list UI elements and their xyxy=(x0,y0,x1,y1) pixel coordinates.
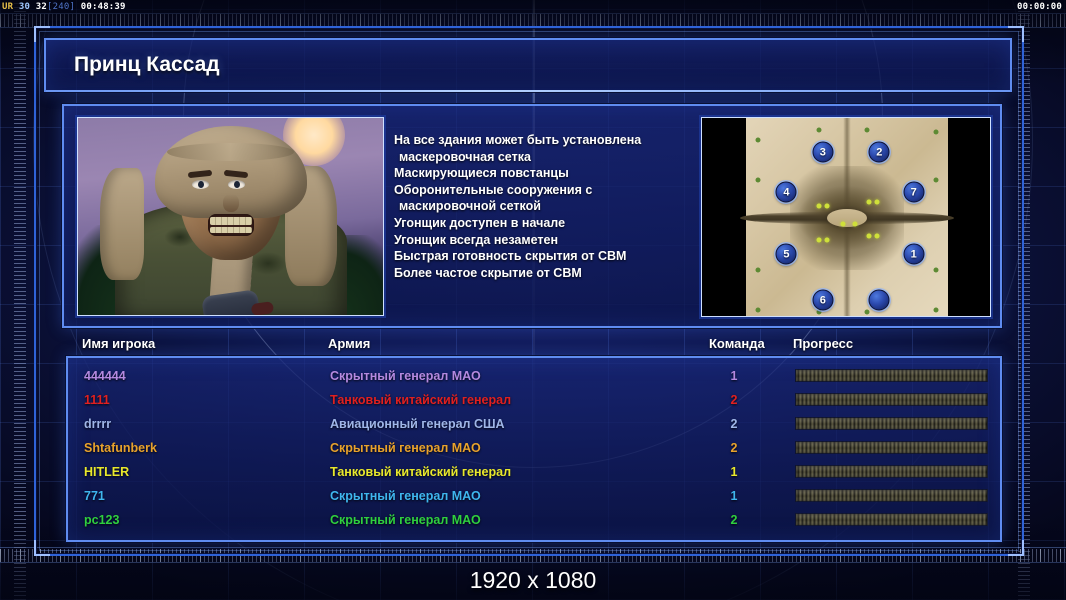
map-start-position[interactable]: 6 xyxy=(812,290,833,311)
player-army: Авиационный генерал США xyxy=(330,412,505,436)
player-team: 1 xyxy=(719,460,749,484)
player-name: drrrr xyxy=(84,412,111,436)
player-team: 2 xyxy=(719,388,749,412)
player-progress-bar xyxy=(795,465,988,478)
column-header-player-name: Имя игрока xyxy=(82,336,155,351)
player-progress-bar xyxy=(795,393,988,406)
player-progress-bar xyxy=(795,369,988,382)
general-info-panel: На все здания может быть установленамаск… xyxy=(62,104,1002,328)
portrait-eye-right xyxy=(228,180,245,189)
player-army: Танковый китайский генерал xyxy=(330,460,511,484)
status-ur-label: UR xyxy=(2,2,13,12)
table-row[interactable]: 1111Танковый китайский генерал2 xyxy=(68,388,1000,412)
player-table-panel: 444444Скрытный генерал МАО11111Танковый … xyxy=(66,356,1002,542)
map-resource-icon xyxy=(875,200,880,205)
map-resource-icon xyxy=(824,204,829,209)
map-start-position[interactable]: 1 xyxy=(903,244,924,265)
player-table-header: Имя игрока Армия Команда Прогресс xyxy=(66,336,1002,356)
player-army: Танковый китайский генерал xyxy=(330,388,511,412)
corner-marker-bottom-right xyxy=(1008,540,1024,556)
player-name: 1111 xyxy=(84,388,110,412)
map-tree-icon xyxy=(816,128,821,133)
status-bar-left: UR 30 32[240] 00:48:39 xyxy=(2,0,126,14)
description-line: маскеровочная сетка xyxy=(394,149,694,166)
status-game-clock: 00:48:39 xyxy=(81,2,126,12)
player-army: Скрытный генерал МАО xyxy=(330,484,481,508)
corner-marker-bottom-left xyxy=(34,540,50,556)
player-team: 1 xyxy=(719,364,749,388)
player-name: 771 xyxy=(84,484,105,508)
player-name: Shtafunberk xyxy=(84,436,157,460)
player-name: HITLER xyxy=(84,460,129,484)
map-resource-icon xyxy=(867,200,872,205)
portrait-teeth-upper xyxy=(210,217,252,225)
table-row[interactable]: pc123Скрытный генерал МАО2 xyxy=(68,508,1000,532)
status-value-bracket: [240] xyxy=(47,2,75,12)
table-row[interactable]: drrrrАвиационный генерал США2 xyxy=(68,412,1000,436)
player-progress-bar xyxy=(795,489,988,502)
player-name: pc123 xyxy=(84,508,119,532)
description-line: маскировочной сеткой xyxy=(394,198,694,215)
map-tree-icon xyxy=(933,178,938,183)
status-bar: UR 30 32[240] 00:48:39 00:00:00 xyxy=(0,0,1066,14)
resolution-label: 1920 x 1080 xyxy=(0,567,1066,594)
map-start-position[interactable]: 5 xyxy=(776,244,797,265)
title-underline xyxy=(46,90,1010,92)
player-rows-container: 444444Скрытный генерал МАО11111Танковый … xyxy=(68,364,1000,532)
map-start-position[interactable]: 7 xyxy=(903,182,924,203)
portrait-teeth-lower xyxy=(210,227,252,233)
map-tree-icon xyxy=(933,130,938,135)
portrait-headwrap-left xyxy=(100,168,144,280)
description-line: Угонщик всегда незаметен xyxy=(394,232,694,249)
player-name: 444444 xyxy=(84,364,126,388)
status-value-b: 32 xyxy=(36,2,47,12)
table-row[interactable]: HITLERТанковый китайский генерал1 xyxy=(68,460,1000,484)
map-tree-icon xyxy=(756,268,761,273)
description-line: Маскирующиеся повстанцы xyxy=(394,165,694,182)
description-line: Угонщик доступен в начале xyxy=(394,215,694,232)
description-line: Более частое скрытие от СВМ xyxy=(394,265,694,282)
map-tree-icon xyxy=(933,308,938,313)
status-bar-right-clock: 00:00:00 xyxy=(1017,0,1062,14)
map-start-position[interactable] xyxy=(869,290,890,311)
map-tree-icon xyxy=(756,138,761,143)
player-army: Скрытный генерал МАО xyxy=(330,436,481,460)
map-resource-icon xyxy=(875,234,880,239)
map-resource-icon xyxy=(816,238,821,243)
description-line: На все здания может быть установлена xyxy=(394,132,694,149)
general-title-panel: Принц Кассад xyxy=(44,38,1012,92)
status-value-a: 30 xyxy=(19,2,30,12)
player-progress-bar xyxy=(795,513,988,526)
player-team: 1 xyxy=(719,484,749,508)
map-start-position[interactable]: 3 xyxy=(812,142,833,163)
column-header-army: Армия xyxy=(328,336,370,351)
player-team: 2 xyxy=(719,436,749,460)
player-team: 2 xyxy=(719,412,749,436)
player-progress-bar xyxy=(795,441,988,454)
map-start-position[interactable]: 4 xyxy=(776,182,797,203)
player-army: Скрытный генерал МАО xyxy=(330,508,481,532)
table-row[interactable]: 444444Скрытный генерал МАО1 xyxy=(68,364,1000,388)
column-header-team: Команда xyxy=(709,336,765,351)
map-resource-icon xyxy=(853,222,858,227)
map-preview[interactable]: 3247516 xyxy=(701,117,991,317)
map-tree-icon xyxy=(865,310,870,315)
player-team: 2 xyxy=(719,508,749,532)
general-description: На все здания может быть установленамаск… xyxy=(394,132,694,281)
map-tree-icon xyxy=(756,178,761,183)
description-line: Быстрая готовность скрытия от СВМ xyxy=(394,248,694,265)
map-resource-icon xyxy=(867,234,872,239)
portrait-nose xyxy=(223,194,239,212)
description-line: Оборонительные сооружения с xyxy=(394,182,694,199)
map-start-position[interactable]: 2 xyxy=(869,142,890,163)
map-terrain: 3247516 xyxy=(746,118,948,317)
map-tree-icon xyxy=(933,268,938,273)
portrait-mouth xyxy=(208,214,254,236)
map-resource-icon xyxy=(824,238,829,243)
map-center-island xyxy=(827,209,867,227)
player-army: Скрытный генерал МАО xyxy=(330,364,481,388)
map-resource-icon xyxy=(816,204,821,209)
portrait-eye-left xyxy=(192,180,209,189)
map-tree-icon xyxy=(756,308,761,313)
map-resource-icon xyxy=(840,222,845,227)
page-title: Принц Кассад xyxy=(74,53,220,77)
player-progress-bar xyxy=(795,417,988,430)
column-header-progress: Прогресс xyxy=(793,336,853,351)
general-portrait xyxy=(77,117,384,316)
table-row[interactable]: ShtafunberkСкрытный генерал МАО2 xyxy=(68,436,1000,460)
table-row[interactable]: 771Скрытный генерал МАО1 xyxy=(68,484,1000,508)
map-tree-icon xyxy=(865,128,870,133)
